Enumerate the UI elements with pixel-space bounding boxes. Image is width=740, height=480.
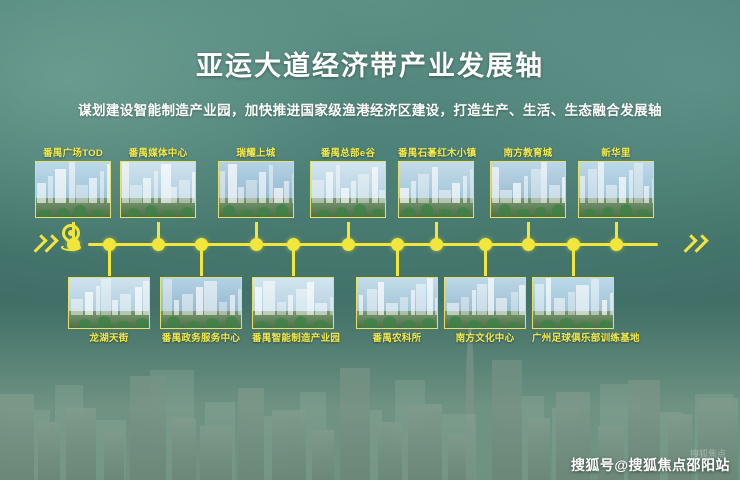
timeline-connector-up: [157, 222, 160, 246]
photo-building: [452, 183, 460, 203]
photo-tree: [372, 209, 384, 217]
photo-building: [488, 277, 494, 315]
project-card-label: 番禺石碁红木小镇: [398, 145, 474, 159]
photo-building: [372, 167, 379, 203]
photo-building: [85, 292, 93, 315]
photo-building: [411, 181, 416, 202]
photo-tree: [637, 209, 649, 217]
photo-tree: [468, 320, 481, 328]
photo-building: [69, 162, 76, 203]
project-photo: [218, 161, 294, 218]
photo-building: [602, 300, 607, 316]
project-card-label: 番禺农科所: [356, 330, 438, 344]
project-photo: [578, 161, 654, 218]
page-title: 亚运大道经济带产业发展轴: [0, 44, 740, 83]
photo-building: [652, 179, 654, 203]
photo-building: [541, 161, 547, 202]
photo-tree: [579, 322, 592, 328]
photo-building: [100, 171, 104, 203]
photo-building: [591, 279, 600, 316]
photo-tree: [79, 319, 92, 329]
photo-tree: [487, 318, 500, 329]
photo-building: [204, 281, 217, 316]
photo-tree: [517, 209, 529, 217]
photo-tree: [181, 207, 193, 217]
photo-building: [580, 176, 584, 203]
photo-building: [447, 303, 459, 315]
photo-tree: [167, 316, 180, 328]
project-card-label: 番禺智能制造产业园: [252, 330, 334, 344]
photo-building: [549, 185, 560, 203]
photo-building: [296, 289, 306, 316]
photo-building: [629, 170, 633, 202]
photo-building: [96, 286, 100, 316]
photo-tree: [422, 318, 435, 329]
photo-building: [554, 298, 565, 315]
project-photo: [490, 161, 566, 218]
photo-tree: [136, 318, 149, 328]
project-card-label: 新华里: [578, 145, 654, 159]
project-card-label: 番禺媒体中心: [120, 145, 196, 159]
photo-building: [143, 281, 150, 316]
photo-building: [135, 287, 142, 315]
photo-tree: [620, 204, 632, 217]
photo-tree: [318, 210, 330, 217]
photo-building: [246, 180, 257, 203]
project-card[interactable]: 龙湖天街: [68, 277, 150, 329]
background-glow-left: [0, 0, 360, 260]
photo-building: [161, 164, 171, 203]
photo-building: [219, 302, 228, 316]
photo-tree: [223, 205, 235, 217]
photo-building: [37, 183, 46, 202]
photo-building: [112, 300, 118, 315]
photo-building: [588, 169, 598, 203]
photo-tree: [240, 210, 252, 217]
timeline-connector-up: [527, 222, 530, 246]
photo-tree: [74, 205, 86, 217]
project-card-label: 番禺广场TOD: [35, 145, 111, 159]
photo-building: [610, 293, 614, 315]
project-card[interactable]: 瑞耀上城: [218, 161, 294, 218]
photo-building: [606, 185, 617, 203]
photo-tree: [602, 207, 614, 217]
photo-building: [274, 188, 283, 202]
photo-building: [535, 284, 545, 316]
timeline-connector-up: [255, 222, 258, 246]
photo-tree: [145, 205, 157, 217]
project-card[interactable]: 番禺智能制造产业园: [252, 277, 334, 329]
photo-building: [326, 172, 333, 202]
photo-tree: [98, 316, 111, 328]
photo-building: [76, 185, 88, 203]
project-photo: [120, 161, 196, 218]
photo-tree: [552, 204, 564, 217]
photo-building: [546, 277, 552, 315]
photo-building: [472, 290, 476, 315]
photo-building: [418, 174, 428, 203]
photo-building: [359, 295, 364, 315]
project-photo: [310, 161, 386, 218]
project-photo: [532, 277, 614, 329]
photo-building: [154, 171, 158, 203]
photo-building: [351, 181, 356, 202]
photo-tree: [117, 321, 130, 329]
photo-building: [598, 161, 604, 202]
project-card[interactable]: 番禺农科所: [356, 277, 438, 329]
photo-building: [220, 171, 224, 203]
photo-tree: [449, 316, 462, 329]
photo-building: [427, 277, 433, 315]
photo-tree: [403, 320, 416, 328]
photo-building: [307, 282, 313, 315]
project-photo: [68, 277, 150, 329]
timeline-node[interactable]: [195, 238, 208, 251]
photo-building: [524, 176, 528, 203]
photo-building: [435, 298, 438, 315]
photo-tree: [258, 207, 270, 217]
photo-tree: [535, 207, 547, 217]
photo-building: [182, 294, 193, 316]
photo-building: [461, 297, 469, 316]
photo-building: [531, 169, 541, 203]
project-card[interactable]: 番禺政务服务中心: [160, 277, 242, 329]
project-card[interactable]: 番禺总部e谷: [310, 161, 386, 218]
photo-building: [432, 167, 439, 203]
timeline-connector-up: [347, 222, 350, 246]
timeline-connector-up: [72, 222, 75, 246]
photo-tree: [336, 207, 348, 217]
photo-building: [513, 183, 521, 203]
photo-building: [400, 188, 409, 202]
photo-building: [171, 187, 177, 203]
photo-tree: [128, 208, 140, 217]
photo-tree: [599, 320, 612, 329]
photo-building: [174, 300, 180, 315]
timeline-connector-up: [615, 222, 618, 246]
photo-building: [130, 185, 142, 203]
photo-tree: [354, 204, 366, 217]
photo-tree: [421, 204, 433, 217]
photo-tree: [92, 210, 104, 217]
photo-tree: [206, 318, 219, 328]
photo-building: [255, 287, 262, 315]
chevron-double-right-icon-left: [34, 232, 60, 256]
photo-tree: [584, 209, 596, 217]
project-card[interactable]: 番禺媒体中心: [120, 161, 196, 218]
photo-tree: [507, 322, 520, 328]
photo-building: [496, 298, 507, 315]
page-subtitle: 谋划建设智能制造产业园，加快推进国家级渔港经济区建设，打造生产、生活、生态融合发…: [0, 99, 740, 119]
project-photo: [160, 277, 242, 329]
project-photo: [444, 277, 526, 329]
project-card-label: 南方文化中心: [444, 330, 526, 344]
photo-building: [269, 165, 273, 202]
photo-tree: [541, 320, 554, 328]
photo-building: [511, 292, 518, 316]
poster-canvas: 亚运大道经济带产业发展轴 谋划建设智能制造产业园，加快推进国家级渔港经济区建设，…: [0, 0, 740, 480]
photo-building: [576, 285, 589, 315]
project-card[interactable]: 广州足球俱乐部训练基地: [532, 277, 614, 329]
project-card[interactable]: 南方教育城: [490, 161, 566, 218]
chevron-double-right-icon-right: [684, 232, 710, 256]
photo-building: [330, 297, 334, 316]
photo-building: [386, 303, 398, 315]
photo-building: [263, 281, 276, 316]
photo-tree: [225, 316, 238, 329]
photo-building: [644, 186, 649, 203]
photo-building: [292, 174, 294, 203]
photo-building: [470, 169, 474, 203]
photo-tree: [383, 316, 396, 329]
photo-building: [411, 290, 415, 315]
photo-building: [492, 167, 499, 203]
photo-building: [439, 190, 451, 203]
timeline-node[interactable]: [479, 238, 492, 251]
project-photo: [252, 277, 334, 329]
photo-building: [55, 169, 65, 203]
photo-building: [101, 279, 111, 315]
photo-building: [179, 180, 190, 203]
project-card-label: 广州足球俱乐部训练基地: [532, 330, 614, 344]
photo-tree: [364, 318, 377, 328]
photo-building: [336, 165, 340, 202]
photo-building: [122, 162, 129, 203]
photo-building: [71, 299, 83, 316]
photo-building: [163, 279, 173, 315]
photo-building: [238, 187, 244, 203]
timeline-connector-up: [435, 222, 438, 246]
timeline-node[interactable]: [391, 238, 404, 251]
project-card-label: 龙湖天街: [68, 330, 150, 344]
photo-building: [230, 295, 235, 315]
photo-tree: [560, 318, 573, 329]
project-card-label: 瑞耀上城: [218, 145, 294, 159]
photo-building: [120, 294, 131, 316]
photo-building: [562, 177, 566, 202]
photo-building: [358, 174, 368, 203]
photo-tree: [314, 320, 327, 328]
photo-tree: [457, 207, 469, 217]
photo-building: [107, 164, 111, 203]
photo-building: [143, 178, 151, 203]
project-card[interactable]: 番禺石碁红木小镇: [398, 161, 474, 218]
photo-building: [315, 303, 327, 315]
photo-building: [378, 282, 384, 315]
photo-tree: [39, 210, 51, 217]
photo-building: [379, 190, 386, 203]
photo-tree: [499, 204, 511, 217]
photo-building: [416, 284, 426, 316]
photo-building: [400, 297, 408, 316]
photo-building: [284, 181, 289, 202]
photo-building: [277, 302, 286, 316]
photo-building: [259, 172, 266, 202]
photo-building: [312, 180, 323, 203]
project-photo: [35, 161, 111, 218]
photo-building: [238, 289, 242, 316]
project-card-label: 番禺总部e谷: [310, 145, 386, 159]
project-card[interactable]: 南方文化中心: [444, 277, 526, 329]
photo-building: [192, 172, 196, 202]
photo-building: [367, 289, 377, 316]
project-photo: [398, 161, 474, 218]
project-card-label: 南方教育城: [490, 145, 566, 159]
photo-building: [568, 292, 575, 316]
project-card[interactable]: 新华里: [578, 161, 654, 218]
photo-building: [619, 177, 626, 202]
photo-building: [288, 295, 293, 315]
photo-building: [477, 284, 487, 316]
photo-tree: [295, 316, 308, 329]
photo-tree: [276, 204, 288, 217]
watermark: 搜狐号@搜狐焦点邵阳站: [571, 455, 730, 475]
photo-tree: [439, 209, 451, 217]
timeline-node[interactable]: [103, 238, 116, 251]
timeline-node[interactable]: [287, 238, 300, 251]
photo-building: [89, 178, 97, 203]
timeline-node[interactable]: [567, 238, 580, 251]
photo-tree: [163, 210, 175, 217]
photo-building: [500, 190, 512, 203]
photo-building: [463, 176, 467, 203]
photo-tree: [187, 321, 200, 329]
project-card[interactable]: 番禺广场TOD: [35, 161, 111, 218]
photo-tree: [275, 318, 288, 328]
photo-tree: [57, 208, 69, 217]
photo-building: [519, 285, 526, 315]
photo-building: [634, 163, 643, 203]
project-card-label: 番禺政务服务中心: [160, 330, 242, 344]
photo-building: [341, 188, 350, 202]
photo-building: [48, 176, 53, 202]
photo-tree: [256, 321, 269, 329]
project-photo: [356, 277, 438, 329]
photo-tree: [403, 207, 415, 217]
photo-building: [228, 164, 238, 203]
photo-building: [196, 287, 203, 315]
